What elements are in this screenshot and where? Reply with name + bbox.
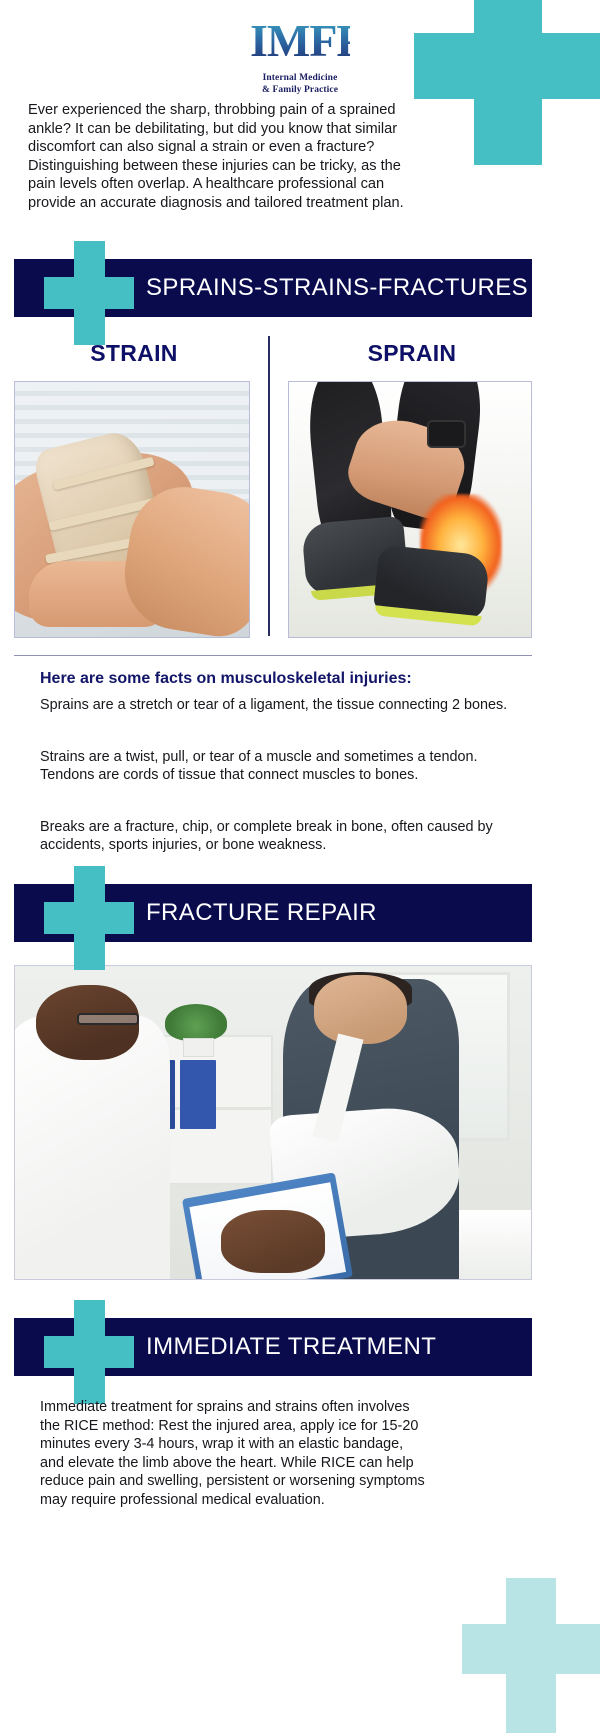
photo-sprain: [288, 381, 532, 638]
facts-heading: Here are some facts on musculoskeletal i…: [40, 670, 510, 688]
comparison-divider: [268, 336, 270, 636]
photo-fracture-repair: [14, 965, 532, 1280]
teal-cross-light-icon: [462, 1578, 600, 1733]
logo-mark-icon: IMFP: [250, 10, 350, 72]
outro-paragraph: Immediate treatment for sprains and stra…: [40, 1398, 425, 1510]
infographic-page: IMFP Internal Medicine & Family Practice…: [0, 0, 600, 1733]
logo-subtitle-line1: Internal Medicine: [0, 73, 600, 84]
banner-sprains-title: SPRAINS-STRAINS-FRACTURES: [146, 259, 528, 317]
facts-divider: [14, 655, 532, 656]
banner-cross-icon-2: [44, 866, 134, 970]
banner-cross-icon-1: [44, 241, 134, 345]
logo-letters: IMFP: [250, 10, 350, 72]
banner-cross-icon-3: [44, 1300, 134, 1404]
photo-strain: [14, 381, 250, 638]
intro-paragraph: Ever experienced the sharp, throbbing pa…: [28, 101, 428, 213]
brand-logo: IMFP Internal Medicine & Family Practice: [0, 10, 600, 96]
banner-fracture-title: FRACTURE REPAIR: [146, 884, 377, 942]
fact-item: Breaks are a fracture, chip, or complete…: [40, 818, 510, 854]
label-sprain: SPRAIN: [292, 340, 532, 367]
fact-item: Strains are a twist, pull, or tear of a …: [40, 748, 510, 784]
fact-item: Sprains are a stretch or tear of a ligam…: [40, 696, 510, 714]
banner-immediate-title: IMMEDIATE TREATMENT: [146, 1318, 436, 1376]
logo-subtitle-line2: & Family Practice: [0, 85, 600, 96]
